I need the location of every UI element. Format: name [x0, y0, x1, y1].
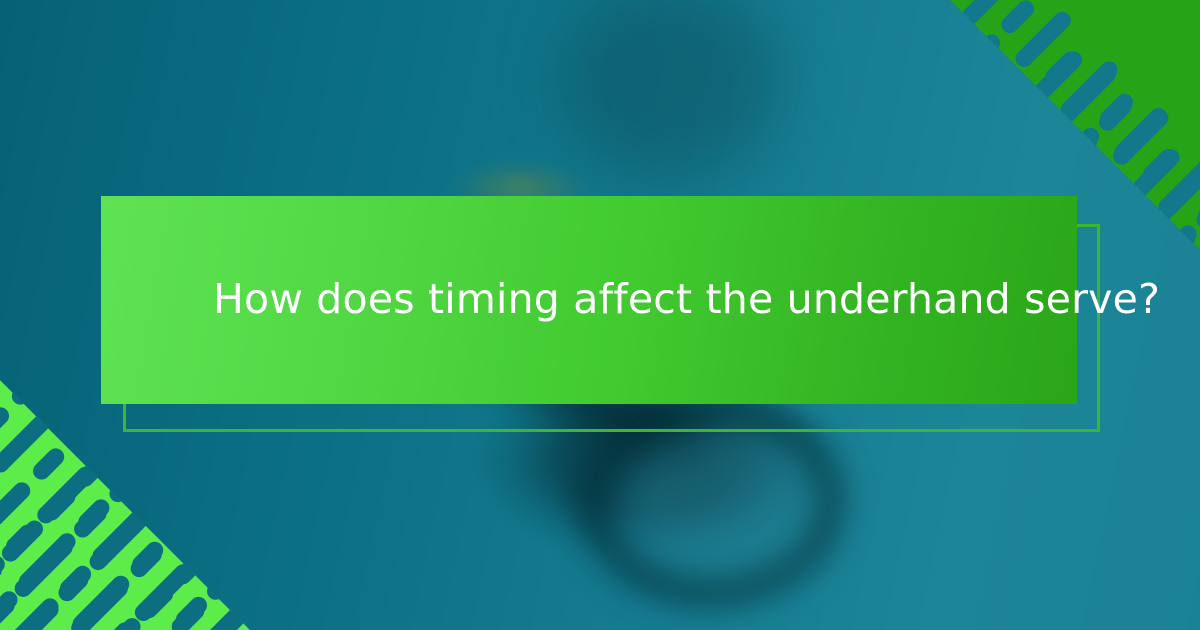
page-title: How does timing affect the underhand ser… [213, 275, 1160, 324]
title-banner: How does timing affect the underhand ser… [101, 196, 1077, 404]
share-card-canvas: How does timing affect the underhand ser… [0, 0, 1200, 630]
background-ring-inner-shape [625, 430, 815, 580]
